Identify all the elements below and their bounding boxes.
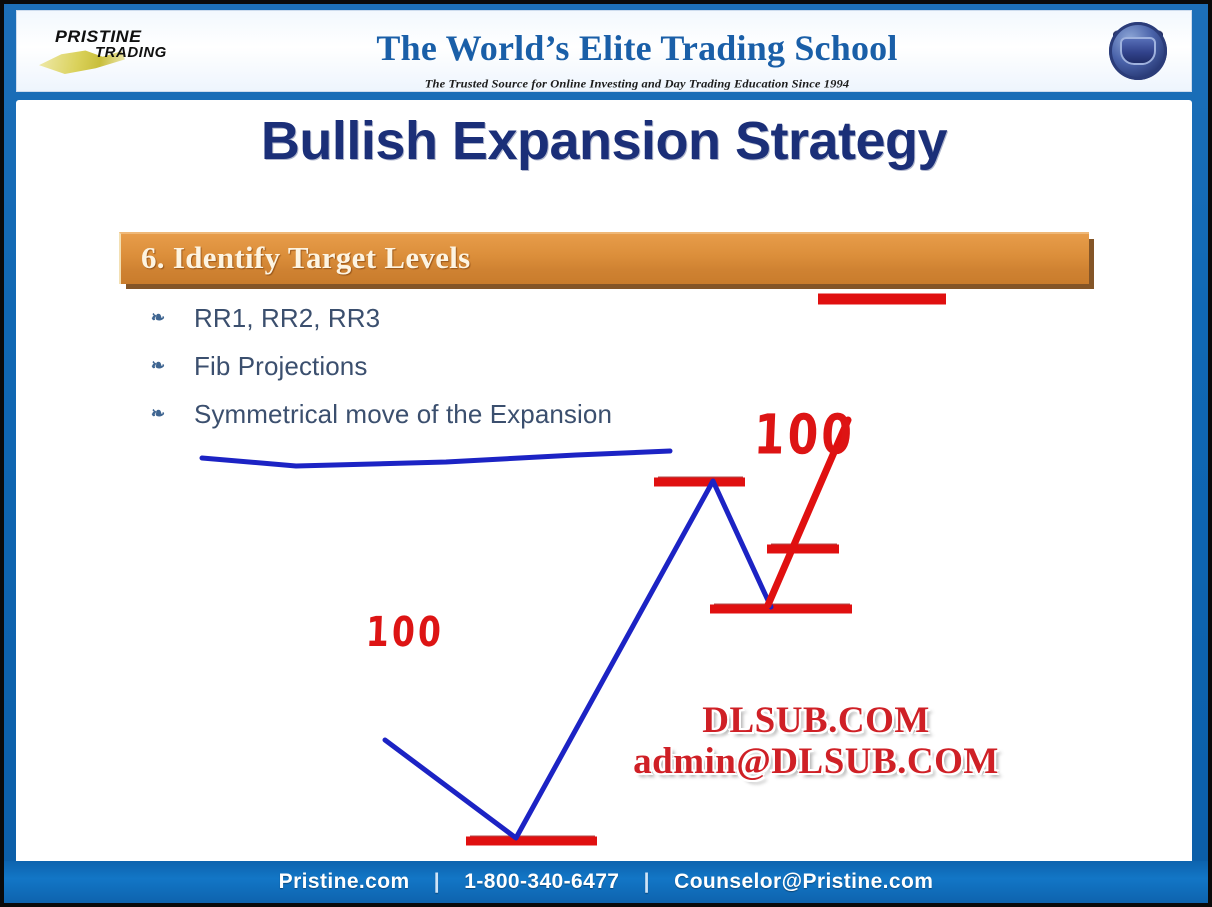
footer-contact: Pristine.com | 1-800-340-6477 | Counselo… xyxy=(4,870,1208,894)
pristine-trading-logo[interactable]: PRISTINE TRADING xyxy=(39,25,219,81)
watermark-email: admin@DLSUB.COM xyxy=(616,741,1016,782)
pristine-seal-icon xyxy=(1105,18,1171,84)
header-band: PRISTINE TRADING The World’s Elite Tradi… xyxy=(16,10,1192,92)
seal-core xyxy=(1120,37,1156,65)
footer-separator-2: | xyxy=(626,870,668,894)
footer-separator-1: | xyxy=(416,870,458,894)
footer-phone[interactable]: 1-800-340-6477 xyxy=(464,870,619,893)
watermark-site: DLSUB.COM xyxy=(616,700,1016,741)
footer-site[interactable]: Pristine.com xyxy=(279,870,410,893)
measure-label-lower: 100 xyxy=(365,607,445,656)
header-title: The World’s Elite Trading School xyxy=(227,27,1047,69)
header-subtitle: The Trusted Source for Online Investing … xyxy=(227,78,1047,92)
footer-bar: Pristine.com | 1-800-340-6477 | Counselo… xyxy=(4,861,1208,903)
blue-underline-symmetrical xyxy=(202,451,670,466)
logo-line-2: TRADING xyxy=(59,45,219,60)
measure-label-upper: 100 xyxy=(753,404,857,468)
slide-container: PRISTINE TRADING The World’s Elite Tradi… xyxy=(0,0,1212,907)
logo-wordmark: PRISTINE TRADING xyxy=(59,28,219,61)
watermark: DLSUB.COM admin@DLSUB.COM xyxy=(616,700,1016,783)
price-path xyxy=(385,481,771,838)
logo-line-1: PRISTINE xyxy=(55,28,223,45)
slide-canvas: Bullish Expansion Strategy 6. Identify T… xyxy=(16,100,1192,865)
footer-email[interactable]: Counselor@Pristine.com xyxy=(674,870,933,893)
